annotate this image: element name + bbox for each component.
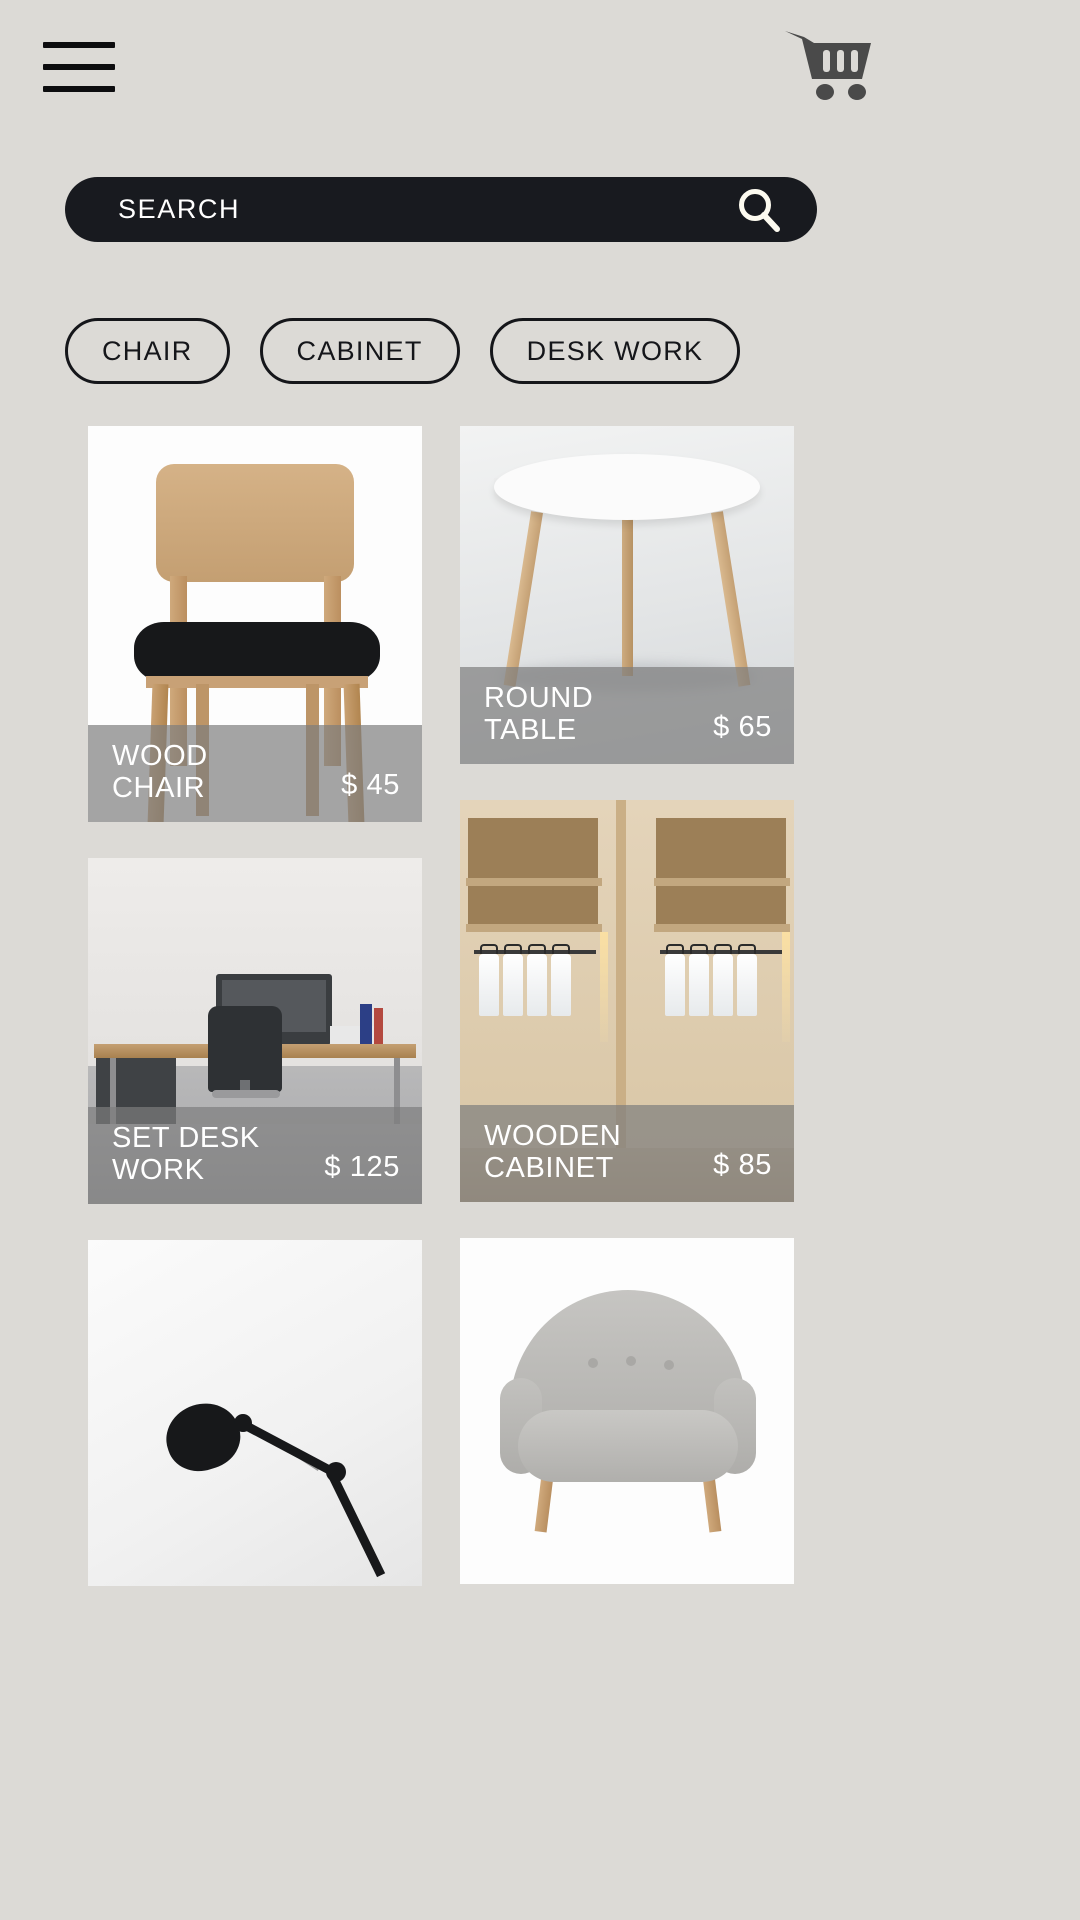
- category-pill-label: DESK WORK: [527, 336, 704, 367]
- product-grid: WOOD CHAIR $ 45: [0, 426, 1080, 1920]
- product-price: $ 85: [713, 1149, 772, 1184]
- product-card-desk-lamp[interactable]: [88, 1240, 422, 1586]
- hamburger-bar-3: [43, 86, 115, 92]
- category-filter-bar: CHAIR CABINET DESK WORK: [65, 318, 817, 384]
- search-placeholder-label: SEARCH: [118, 194, 240, 225]
- category-pill-chair[interactable]: CHAIR: [65, 318, 230, 384]
- product-column-right: ROUND TABLE $ 65: [460, 426, 794, 1620]
- app-root: SEARCH CHAIR CABINET DESK WORK: [0, 0, 1080, 1920]
- product-column-left: WOOD CHAIR $ 45: [88, 426, 422, 1622]
- product-card-armchair[interactable]: [460, 1238, 794, 1584]
- hamburger-menu-icon[interactable]: [43, 42, 115, 92]
- product-price: $ 65: [713, 711, 772, 746]
- product-name: WOOD CHAIR: [112, 741, 302, 804]
- product-card-set-desk-work[interactable]: SET DESK WORK $ 125: [88, 858, 422, 1204]
- product-label-band: WOOD CHAIR $ 45: [88, 725, 422, 822]
- product-price: $ 45: [341, 769, 400, 804]
- product-price: $ 125: [324, 1151, 400, 1186]
- product-image-armchair: [460, 1238, 794, 1584]
- product-card-wooden-cabinet[interactable]: WOODEN CABINET $ 85: [460, 800, 794, 1202]
- hamburger-bar-2: [43, 64, 115, 70]
- product-name: WOODEN CABINET: [484, 1121, 674, 1184]
- app-header: [0, 0, 1080, 150]
- shopping-cart-icon[interactable]: [783, 26, 875, 100]
- category-pill-cabinet[interactable]: CABINET: [260, 318, 460, 384]
- product-label-band: ROUND TABLE $ 65: [460, 667, 794, 764]
- magnifier-icon[interactable]: [735, 186, 783, 234]
- search-input[interactable]: SEARCH: [65, 177, 817, 242]
- product-image-desk-lamp: [88, 1240, 422, 1586]
- product-card-round-table[interactable]: ROUND TABLE $ 65: [460, 426, 794, 764]
- category-pill-desk-work[interactable]: DESK WORK: [490, 318, 741, 384]
- product-card-wood-chair[interactable]: WOOD CHAIR $ 45: [88, 426, 422, 822]
- category-pill-label: CHAIR: [102, 336, 193, 367]
- category-pill-label: CABINET: [297, 336, 423, 367]
- product-label-band: WOODEN CABINET $ 85: [460, 1105, 794, 1202]
- hamburger-bar-1: [43, 42, 115, 48]
- product-name: SET DESK WORK: [112, 1123, 302, 1186]
- product-label-band: SET DESK WORK $ 125: [88, 1107, 422, 1204]
- product-name: ROUND TABLE: [484, 683, 674, 746]
